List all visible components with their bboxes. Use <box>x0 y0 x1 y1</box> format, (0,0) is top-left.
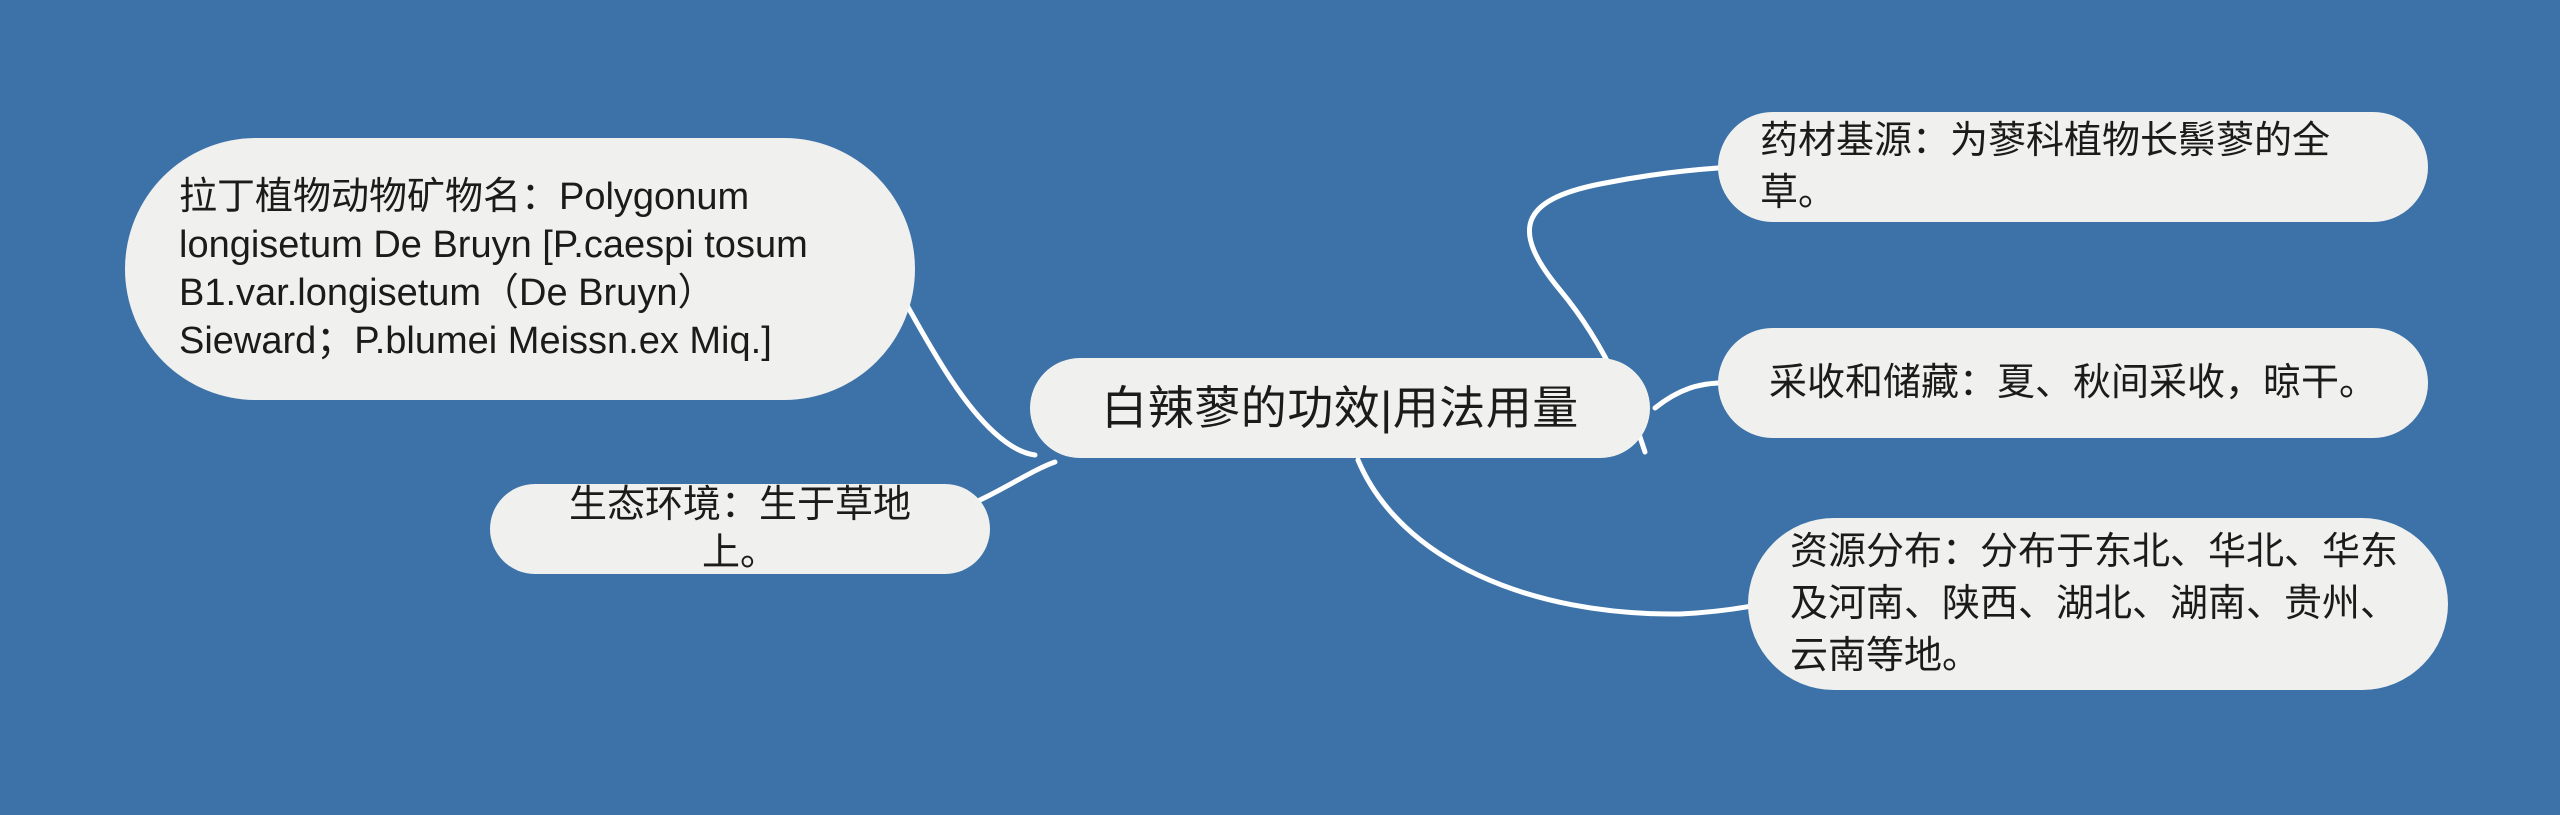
branch-node-medicinal-source[interactable]: 药材基源：为蓼科植物长鬃蓼的全草。 <box>1718 112 2428 222</box>
connector-to-resource-distribution <box>1358 460 1752 614</box>
branch-node-resource-distribution-label: 资源分布：分布于东北、华北、华东及河南、陕西、湖北、湖南、贵州、云南等地。 <box>1790 526 2406 682</box>
mindmap-canvas: 白辣蓼的功效|用法用量 拉丁植物动物矿物名：Polygonum longiset… <box>0 0 2560 815</box>
branch-node-harvest-storage-label: 采收和储藏：夏、秋间采收，晾干。 <box>1769 357 2377 409</box>
connector-to-latin-name <box>895 285 1035 455</box>
connector-to-harvest-storage <box>1655 383 1718 408</box>
branch-node-harvest-storage[interactable]: 采收和储藏：夏、秋间采收，晾干。 <box>1718 328 2428 438</box>
branch-node-resource-distribution[interactable]: 资源分布：分布于东北、华北、华东及河南、陕西、湖北、湖南、贵州、云南等地。 <box>1748 518 2448 690</box>
branch-node-latin-name[interactable]: 拉丁植物动物矿物名：Polygonum longisetum De Bruyn … <box>125 138 915 400</box>
branch-node-habitat-label: 生态环境：生于草地上。 <box>532 484 948 574</box>
branch-node-medicinal-source-label: 药材基源：为蓼科植物长鬃蓼的全草。 <box>1760 115 2386 219</box>
central-node[interactable]: 白辣蓼的功效|用法用量 <box>1030 358 1650 458</box>
branch-node-latin-name-label: 拉丁植物动物矿物名：Polygonum longisetum De Bruyn … <box>179 173 861 365</box>
central-node-label: 白辣蓼的功效|用法用量 <box>1101 377 1578 439</box>
branch-node-habitat[interactable]: 生态环境：生于草地上。 <box>490 484 990 574</box>
